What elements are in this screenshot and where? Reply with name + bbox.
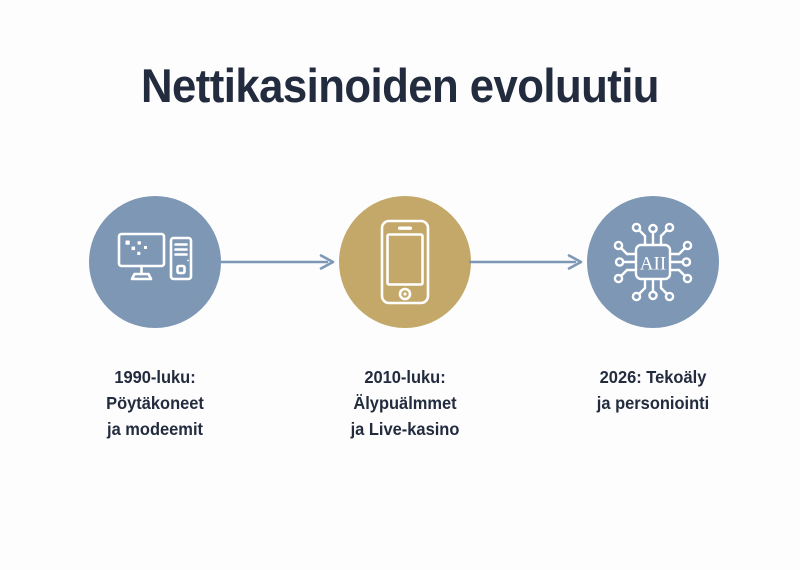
smartphone-icon bbox=[380, 219, 430, 305]
page-title: Nettikasinoiden evoluutiu bbox=[28, 58, 772, 113]
circle-badge-1990 bbox=[89, 196, 221, 328]
ai-chip-icon: AII bbox=[610, 219, 696, 305]
circle-badge-2010 bbox=[339, 196, 471, 328]
timeline-node-2010 bbox=[339, 196, 471, 328]
caption-2026: 2026: Tekoäly ja personiointi bbox=[545, 364, 761, 416]
caption-2026-line-2: ja personiointi bbox=[545, 390, 761, 416]
desktop-computer-icon bbox=[117, 231, 193, 293]
caption-2010-line-3: ja Live-kasino bbox=[297, 416, 513, 442]
circle-badge-2026: AII bbox=[587, 196, 719, 328]
infographic-canvas: Nettikasinoiden evoluutiu bbox=[0, 0, 800, 570]
timeline-row: AII bbox=[0, 196, 800, 328]
caption-2010-line-1: 2010-luku: bbox=[297, 364, 513, 390]
caption-1990-line-2: Pöytäkoneet bbox=[47, 390, 263, 416]
caption-1990-line-1: 1990-luku: bbox=[47, 364, 263, 390]
arrow-2010-to-2026 bbox=[469, 251, 587, 273]
caption-row: 1990-luku: Pöytäkoneet ja modeemit 2010-… bbox=[0, 364, 800, 484]
timeline-node-1990 bbox=[89, 196, 221, 328]
caption-2010-line-2: Älypuälmmet bbox=[297, 390, 513, 416]
arrow-1990-to-2010 bbox=[221, 251, 339, 273]
ai-chip-label: AII bbox=[640, 254, 666, 275]
caption-2010: 2010-luku: Älypuälmmet ja Live-kasino bbox=[297, 364, 513, 442]
caption-1990-line-3: ja modeemit bbox=[47, 416, 263, 442]
caption-1990: 1990-luku: Pöytäkoneet ja modeemit bbox=[47, 364, 263, 442]
timeline-node-2026: AII bbox=[587, 196, 719, 328]
caption-2026-line-1: 2026: Tekoäly bbox=[545, 364, 761, 390]
